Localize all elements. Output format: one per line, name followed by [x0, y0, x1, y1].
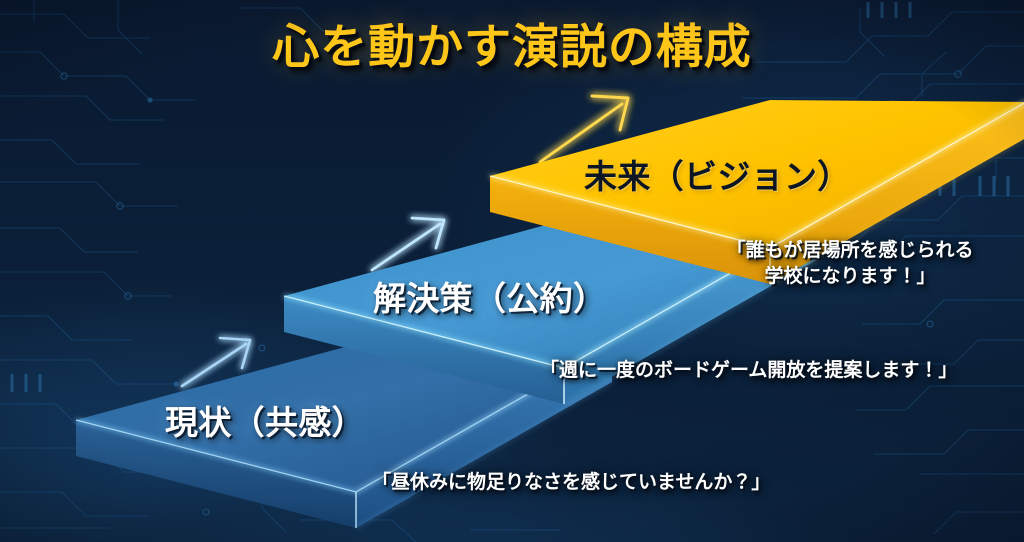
- step-3-future-vision[interactable]: 未来（ビジョン）: [474, 108, 1024, 298]
- slide-canvas: 心を動かす演説の構成: [0, 0, 1024, 542]
- page-title: 心を動かす演説の構成: [0, 8, 1024, 77]
